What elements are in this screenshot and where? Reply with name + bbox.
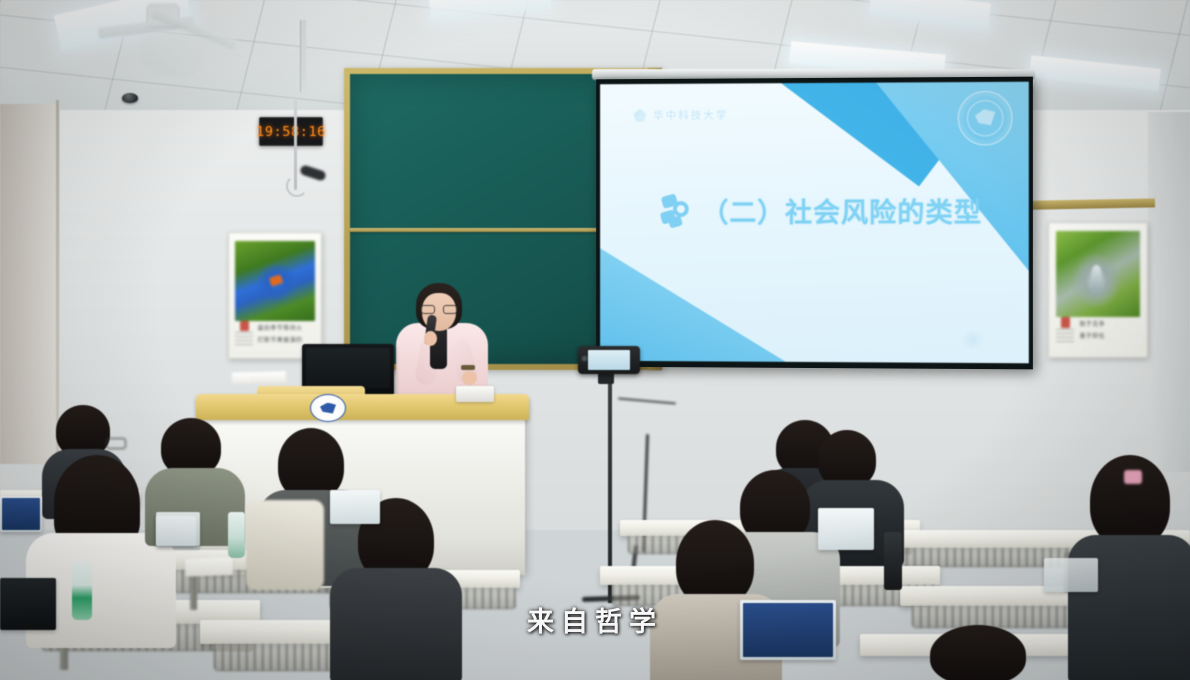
hair-clip xyxy=(1124,470,1142,484)
camera-lens-icon xyxy=(581,355,588,362)
student-shawl xyxy=(246,500,324,590)
laptop[interactable] xyxy=(330,490,380,524)
slide-title-row: （二）社会风险的类型 xyxy=(661,191,982,230)
slide-org-logo: 华中科技大学 xyxy=(634,107,729,122)
student xyxy=(330,498,460,680)
poster-slogan: 致于克争 善于转化 xyxy=(1079,317,1140,340)
slide-university-seal xyxy=(958,91,1013,146)
phone-screen xyxy=(588,350,630,370)
lecturer-left-hand xyxy=(424,331,437,346)
podium-device-box xyxy=(456,386,494,402)
wall-poster-right: 致于克争 善于转化 xyxy=(1048,222,1148,358)
poster-slogan: 最后季节等待火 打新节奏展演的 xyxy=(258,321,315,344)
thermos-bottle xyxy=(884,532,902,590)
poster-photo xyxy=(235,241,314,321)
slide-org-logo-mark xyxy=(634,109,647,122)
projector-support-pole xyxy=(300,20,306,92)
poster-slogan-line1: 最后季节等待火 xyxy=(258,323,315,332)
glasses-icon xyxy=(106,438,126,449)
poster-photo xyxy=(1056,231,1140,317)
podium-paper xyxy=(232,371,286,383)
crest-glyph xyxy=(320,403,336,414)
lecturer-wristwatch xyxy=(461,365,475,370)
lecture-hall-frame: 华中科技大学 （二）社会风险的类型 19:58:16 最后季 xyxy=(0,0,1190,680)
presentation-slide: 华中科技大学 （二）社会风险的类型 xyxy=(600,82,1029,364)
projection-screen: 华中科技大学 （二）社会风险的类型 xyxy=(596,77,1033,370)
slide-bullet-icon xyxy=(661,195,691,227)
laptop[interactable] xyxy=(0,496,42,532)
clock-time-display: 19:58:16 xyxy=(256,124,326,140)
poster-red-seal xyxy=(240,321,249,331)
slide-accent-band-bottom-left xyxy=(600,240,832,363)
right-wall-panel xyxy=(1148,112,1190,472)
poster-slogan-line2: 善于转化 xyxy=(1079,331,1140,340)
water-bottle xyxy=(228,512,245,558)
poster-seal xyxy=(235,321,252,348)
digital-wall-clock: 19:58:16 xyxy=(259,117,323,146)
hanging-cable-loop xyxy=(286,175,308,197)
poster-fine-print xyxy=(235,332,252,347)
poster-red-seal xyxy=(1061,317,1070,328)
poster-slogan-line1: 致于克争 xyxy=(1079,319,1140,328)
glasses-icon xyxy=(421,305,457,314)
slide-title: （二）社会风险的类型 xyxy=(702,191,982,230)
video-subtitle: 来自哲学 xyxy=(0,600,1190,639)
notebook xyxy=(185,557,234,577)
poster-slogan-line2: 打新节奏展演的 xyxy=(258,335,315,344)
slide-org-logo-text: 华中科技大学 xyxy=(653,107,728,122)
laptop-screen xyxy=(2,498,40,530)
laptop[interactable] xyxy=(1044,558,1098,592)
poster-caption: 致于克争 善于转化 xyxy=(1056,317,1140,352)
lecturer-right-hand xyxy=(462,371,477,385)
security-camera-dome xyxy=(122,93,138,103)
poster-fine-print xyxy=(1056,329,1075,346)
lecturer xyxy=(388,283,506,403)
recording-phone xyxy=(578,346,640,374)
laptop[interactable] xyxy=(818,508,874,550)
poster-seal xyxy=(1056,317,1075,346)
wall-poster-left: 最后季节等待火 打新节奏展演的 xyxy=(228,232,322,359)
slide-watermark xyxy=(962,331,984,349)
university-crest-icon xyxy=(310,394,346,422)
student-head xyxy=(1090,455,1170,547)
laptop[interactable] xyxy=(156,512,200,546)
